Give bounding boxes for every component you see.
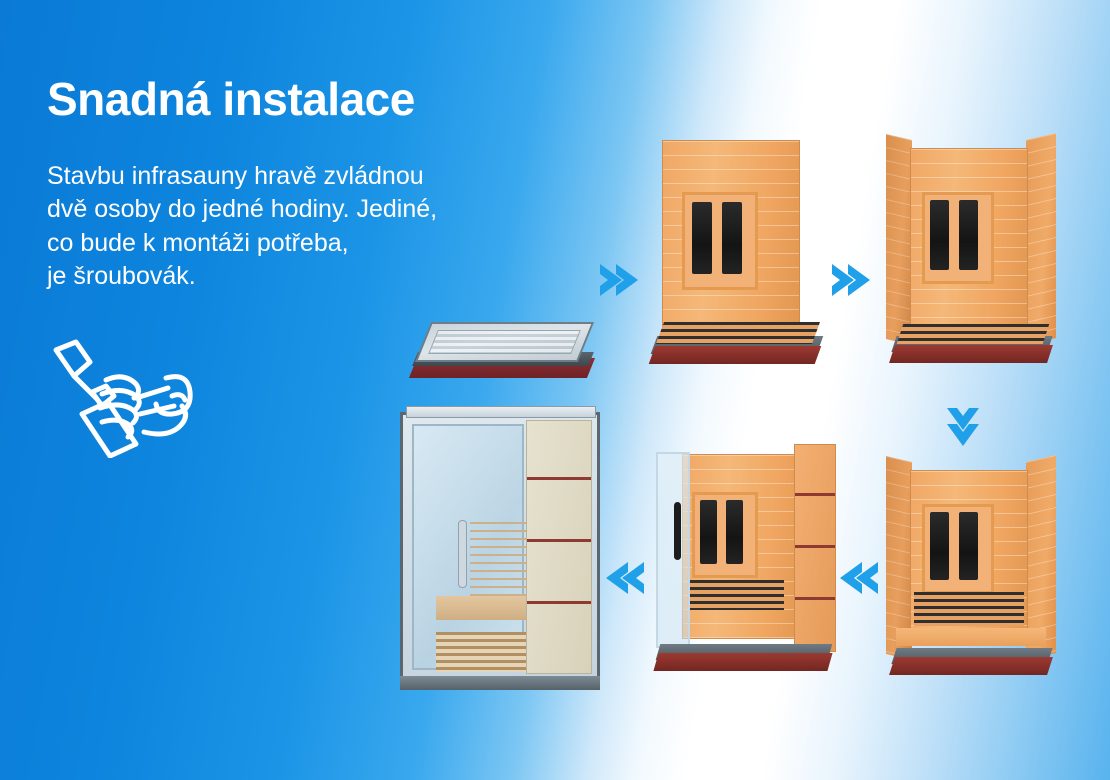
panel-seam — [527, 601, 591, 604]
heater-panel-right — [722, 202, 742, 274]
interior-bench — [436, 596, 528, 620]
heater-panel-right — [726, 500, 743, 564]
heater-panel-left — [700, 500, 717, 564]
right-side-wall — [1026, 133, 1056, 345]
interior-lower-grille — [436, 632, 528, 672]
door-handle — [674, 502, 681, 560]
heater-panel-left — [930, 512, 949, 580]
floor-grille — [656, 322, 820, 344]
body-copy: Stavbu infrasauny hravě zvládnou dvě oso… — [47, 160, 517, 293]
infographic-page: Snadná instalace Stavbu infrasauny hravě… — [0, 0, 1110, 780]
bench — [896, 628, 1046, 646]
heater-panel-right — [959, 512, 978, 580]
floor-surface — [415, 322, 594, 362]
stage-3-side-walls — [880, 140, 1070, 390]
hand-holding-wrench-icon — [44, 336, 194, 458]
panel-seam — [795, 597, 835, 600]
stage-2-back-wall — [648, 140, 828, 390]
right-side-panel — [526, 420, 592, 674]
floor-grille — [897, 324, 1049, 344]
body-line-2: dvě osoby do jedné hodiny. Jediné, — [47, 193, 517, 226]
cabin-roof — [406, 406, 596, 418]
heater-panel-right — [959, 200, 978, 270]
arrow-step-3-to-4 — [941, 404, 985, 448]
body-line-3: co bude k montáži potřeba, — [47, 227, 517, 260]
glass-door — [656, 452, 690, 648]
arrow-step-5-to-6 — [604, 556, 648, 600]
stage-4-bench-installed — [880, 462, 1072, 694]
arrow-step-2-to-3 — [828, 258, 872, 302]
floor-base-red — [889, 657, 1053, 675]
left-side-wall — [886, 134, 912, 345]
stage-1-floor-panel — [413, 322, 598, 390]
body-line-1: Stavbu infrasauny hravě zvládnou — [47, 160, 517, 193]
arrow-step-1-to-2 — [596, 258, 640, 302]
body-line-4: je šroubovák. — [47, 260, 517, 293]
cabin-base — [400, 676, 600, 690]
panel-seam — [795, 493, 835, 496]
glass-door — [412, 424, 524, 670]
heater-panel-left — [692, 202, 712, 274]
lower-heater-grille — [914, 592, 1024, 626]
heater-panel-left — [930, 200, 949, 270]
page-title: Snadná instalace — [47, 72, 415, 126]
floor-base-red — [649, 346, 822, 364]
interior-wall-slats — [470, 522, 530, 602]
floor-base-red — [653, 653, 832, 671]
floor-base-red — [889, 345, 1053, 363]
arrow-step-4-to-5 — [838, 556, 882, 600]
panel-seam — [527, 539, 591, 542]
stage-6-finished-cabin — [400, 412, 608, 694]
right-front-panel-column — [794, 444, 836, 652]
lower-heater-grille — [688, 580, 784, 610]
stage-5-front-panels — [648, 440, 848, 692]
panel-seam — [527, 477, 591, 480]
door-handle — [458, 520, 467, 588]
panel-seam — [795, 545, 835, 548]
